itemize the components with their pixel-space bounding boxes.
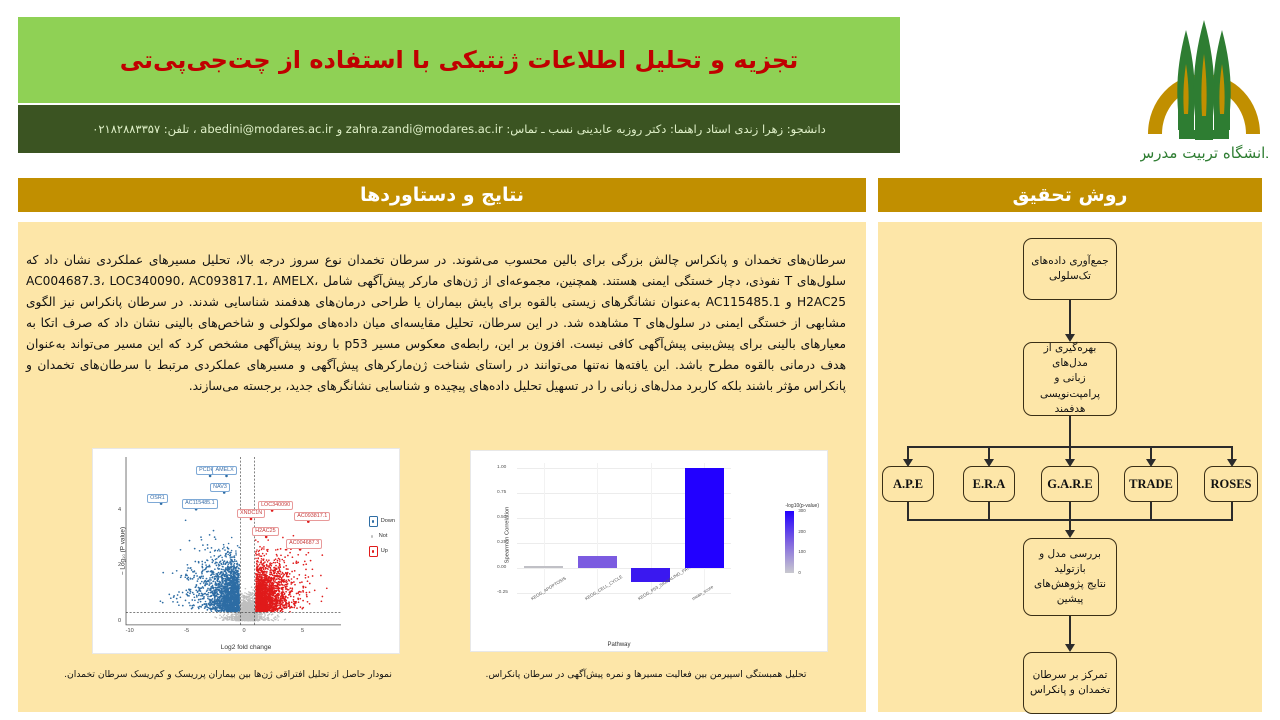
flow-rise-m5 bbox=[1231, 502, 1233, 520]
flow-connector-n1-n2 bbox=[1069, 300, 1071, 336]
volcano-gene-label: XNDC1N bbox=[237, 509, 265, 518]
caption-volcano: نمودار حاصل از تحلیل افتراقی ژن‌ها بین ب… bbox=[26, 668, 430, 682]
barchart-vgridline bbox=[597, 463, 598, 593]
volcano-gene-label: AC115485.1 bbox=[182, 499, 218, 508]
flow-node-llm-prompting-label: بهره‌گیری از مدل‌هایزبانی و پرامپت‌نویسی… bbox=[1028, 341, 1112, 417]
volcano-gene-label: NAV3 bbox=[210, 483, 230, 492]
author-contact-band: دانشجو: زهرا زندی استاد راهنما: دکتر روز… bbox=[18, 105, 900, 153]
figure-captions: نمودار حاصل از تحلیل افتراقی ژن‌ها بین ب… bbox=[26, 668, 848, 682]
method-flowchart: جمع‌آوری داده‌هایتک‌سلولی بهره‌گیری از م… bbox=[884, 228, 1256, 706]
barchart-y-tick: 0.50 bbox=[497, 515, 506, 520]
barchart-bar[interactable] bbox=[524, 566, 563, 568]
barchart-y-tick: -0.25 bbox=[497, 590, 508, 595]
university-logo-icon: دانشگاه تربیت مدرس bbox=[1140, 6, 1268, 164]
volcano-gene-label: OSR1 bbox=[147, 494, 168, 503]
flow-rise-m2 bbox=[988, 502, 990, 520]
flow-node-model-validation[interactable]: بررسی مدل و بازتولیدنتایج پژوهش‌هایپیشین bbox=[1023, 538, 1117, 616]
volcano-legend-item[interactable]: Down bbox=[369, 516, 395, 527]
barchart-y-tick: 0.00 bbox=[497, 565, 506, 570]
volcano-legend: DownNotUp bbox=[369, 516, 395, 562]
volcano-legend-key bbox=[369, 546, 378, 557]
volcano-gene-label: H2AC25 bbox=[252, 527, 278, 536]
volcano-y-tick: 4 bbox=[118, 507, 121, 513]
figure-spearman-barchart: Spearman Correlation Pathway -0.250.000.… bbox=[470, 450, 828, 652]
flow-node-ape-label: A.P.E bbox=[893, 475, 923, 493]
volcano-gene-label: AMELX bbox=[212, 466, 236, 475]
section-header-results-label: نتایج و دستاوردها bbox=[360, 184, 524, 206]
barchart-y-tick: 0.25 bbox=[497, 540, 506, 545]
poster-title-band: تجزیه و تحلیل اطلاعات ژنتیکی با استفاده … bbox=[18, 17, 900, 103]
flow-connector-n2-branch bbox=[1069, 416, 1071, 448]
flow-node-data-collection[interactable]: جمع‌آوری داده‌هایتک‌سلولی bbox=[1023, 238, 1117, 300]
barchart-x-tick: KEGG_APOPTOSIS bbox=[530, 576, 567, 602]
author-contact-text: دانشجو: زهرا زندی استاد راهنما: دکتر روز… bbox=[92, 122, 826, 136]
volcano-gene-label: AC093817.1 bbox=[294, 512, 330, 521]
volcano-legend-key bbox=[369, 516, 378, 527]
barchart-bar[interactable] bbox=[685, 468, 724, 568]
flow-arrow-n3-n4 bbox=[1064, 642, 1076, 652]
caption-barchart: تحلیل همبستگی اسپیرمن بین فعالیت مسیرها … bbox=[444, 668, 848, 682]
flow-node-era[interactable]: E.R.A bbox=[963, 466, 1015, 502]
flow-node-ape[interactable]: A.P.E bbox=[882, 466, 934, 502]
barchart-y-tick: 0.75 bbox=[497, 490, 506, 495]
barchart-colorbar-tick: 0 bbox=[798, 570, 800, 575]
barchart-colorbar-tick: 300 bbox=[798, 508, 805, 513]
flow-node-roses-label: ROSES bbox=[1211, 475, 1252, 493]
volcano-legend-item[interactable]: Up bbox=[369, 546, 395, 557]
flow-node-gare[interactable]: G.A.R.E bbox=[1041, 466, 1099, 502]
volcano-legend-label: Not bbox=[379, 533, 388, 539]
volcano-legend-key bbox=[369, 532, 376, 541]
section-header-method-label: روش تحقیق bbox=[1013, 184, 1128, 206]
barchart-gridline bbox=[517, 568, 731, 569]
svg-text:دانشگاه تربیت مدرس: دانشگاه تربیت مدرس bbox=[1140, 144, 1268, 162]
page-title: تجزیه و تحلیل اطلاعات ژنتیکی با استفاده … bbox=[120, 46, 798, 74]
flow-node-gare-label: G.A.R.E bbox=[1047, 475, 1093, 493]
section-header-results: نتایج و دستاوردها bbox=[18, 178, 866, 212]
figure-volcano-plot: − Log₁₀ (P value) Log2 fold change -10-5… bbox=[92, 448, 400, 654]
barchart-x-tick: KEGG_CELL_CYCLE bbox=[584, 574, 623, 601]
flow-node-cancer-focus-label: تمرکز بر سرطانتخمدان و پانکراس bbox=[1030, 668, 1110, 698]
volcano-y-tick: 0 bbox=[118, 618, 121, 624]
barchart-colorbar-tick: 200 bbox=[798, 529, 805, 534]
barchart-y-tick: 1.00 bbox=[497, 465, 506, 470]
volcano-x-tick: 5 bbox=[301, 628, 304, 634]
flow-rise-m1 bbox=[907, 502, 909, 520]
flow-node-roses[interactable]: ROSES bbox=[1204, 466, 1258, 502]
volcano-gene-label: AC004687.3 bbox=[286, 539, 322, 548]
poster-root: تجزیه و تحلیل اطلاعات ژنتیکی با استفاده … bbox=[0, 0, 1280, 720]
flow-node-trade[interactable]: TRADE bbox=[1124, 466, 1178, 502]
volcano-x-tick: 0 bbox=[243, 628, 246, 634]
volcano-legend-label: Down bbox=[381, 518, 395, 524]
volcano-x-tick: -10 bbox=[126, 628, 134, 634]
volcano-legend-label: Up bbox=[381, 548, 388, 554]
volcano-gene-label: LOC340090 bbox=[258, 501, 293, 510]
volcano-x-axis-label: Log2 fold change bbox=[93, 644, 399, 651]
barchart-colorbar-tick: 100 bbox=[798, 549, 805, 554]
flow-node-model-validation-label: بررسی مدل و بازتولیدنتایج پژوهش‌هایپیشین bbox=[1028, 547, 1112, 608]
barchart-colorbar: -log10(p-value) 0100200300 bbox=[785, 503, 819, 573]
barchart-vgridline bbox=[544, 463, 545, 593]
flow-node-llm-prompting[interactable]: بهره‌گیری از مدل‌هایزبانی و پرامپت‌نویسی… bbox=[1023, 342, 1117, 416]
barchart-plot-area: -0.250.000.250.500.751.00KEGG_APOPTOSISK… bbox=[517, 463, 731, 593]
volcano-x-tick: -5 bbox=[184, 628, 189, 634]
volcano-plot-area: -10-505024PCDHB3AMELXNAV3OSR1AC115485.1X… bbox=[119, 457, 341, 629]
barchart-colorbar-gradient bbox=[785, 511, 794, 573]
university-logo: دانشگاه تربیت مدرس bbox=[1140, 6, 1268, 164]
section-header-method: روش تحقیق bbox=[878, 178, 1262, 212]
flow-node-data-collection-label: جمع‌آوری داده‌هایتک‌سلولی bbox=[1031, 254, 1109, 284]
flow-node-trade-label: TRADE bbox=[1129, 475, 1173, 493]
volcano-legend-item[interactable]: Not bbox=[369, 532, 395, 541]
flow-arrow-branch-n3 bbox=[1064, 528, 1076, 538]
volcano-y-tick: 2 bbox=[118, 562, 121, 568]
results-body-text: سرطان‌های تخمدان و پانکراس چالش بزرگی بر… bbox=[26, 250, 846, 397]
barchart-x-axis-label: Pathway bbox=[471, 642, 767, 648]
flow-rise-m4 bbox=[1150, 502, 1152, 520]
flow-node-era-label: E.R.A bbox=[973, 475, 1006, 493]
flow-node-cancer-focus[interactable]: تمرکز بر سرطانتخمدان و پانکراس bbox=[1023, 652, 1117, 714]
barchart-bar[interactable] bbox=[578, 556, 617, 568]
